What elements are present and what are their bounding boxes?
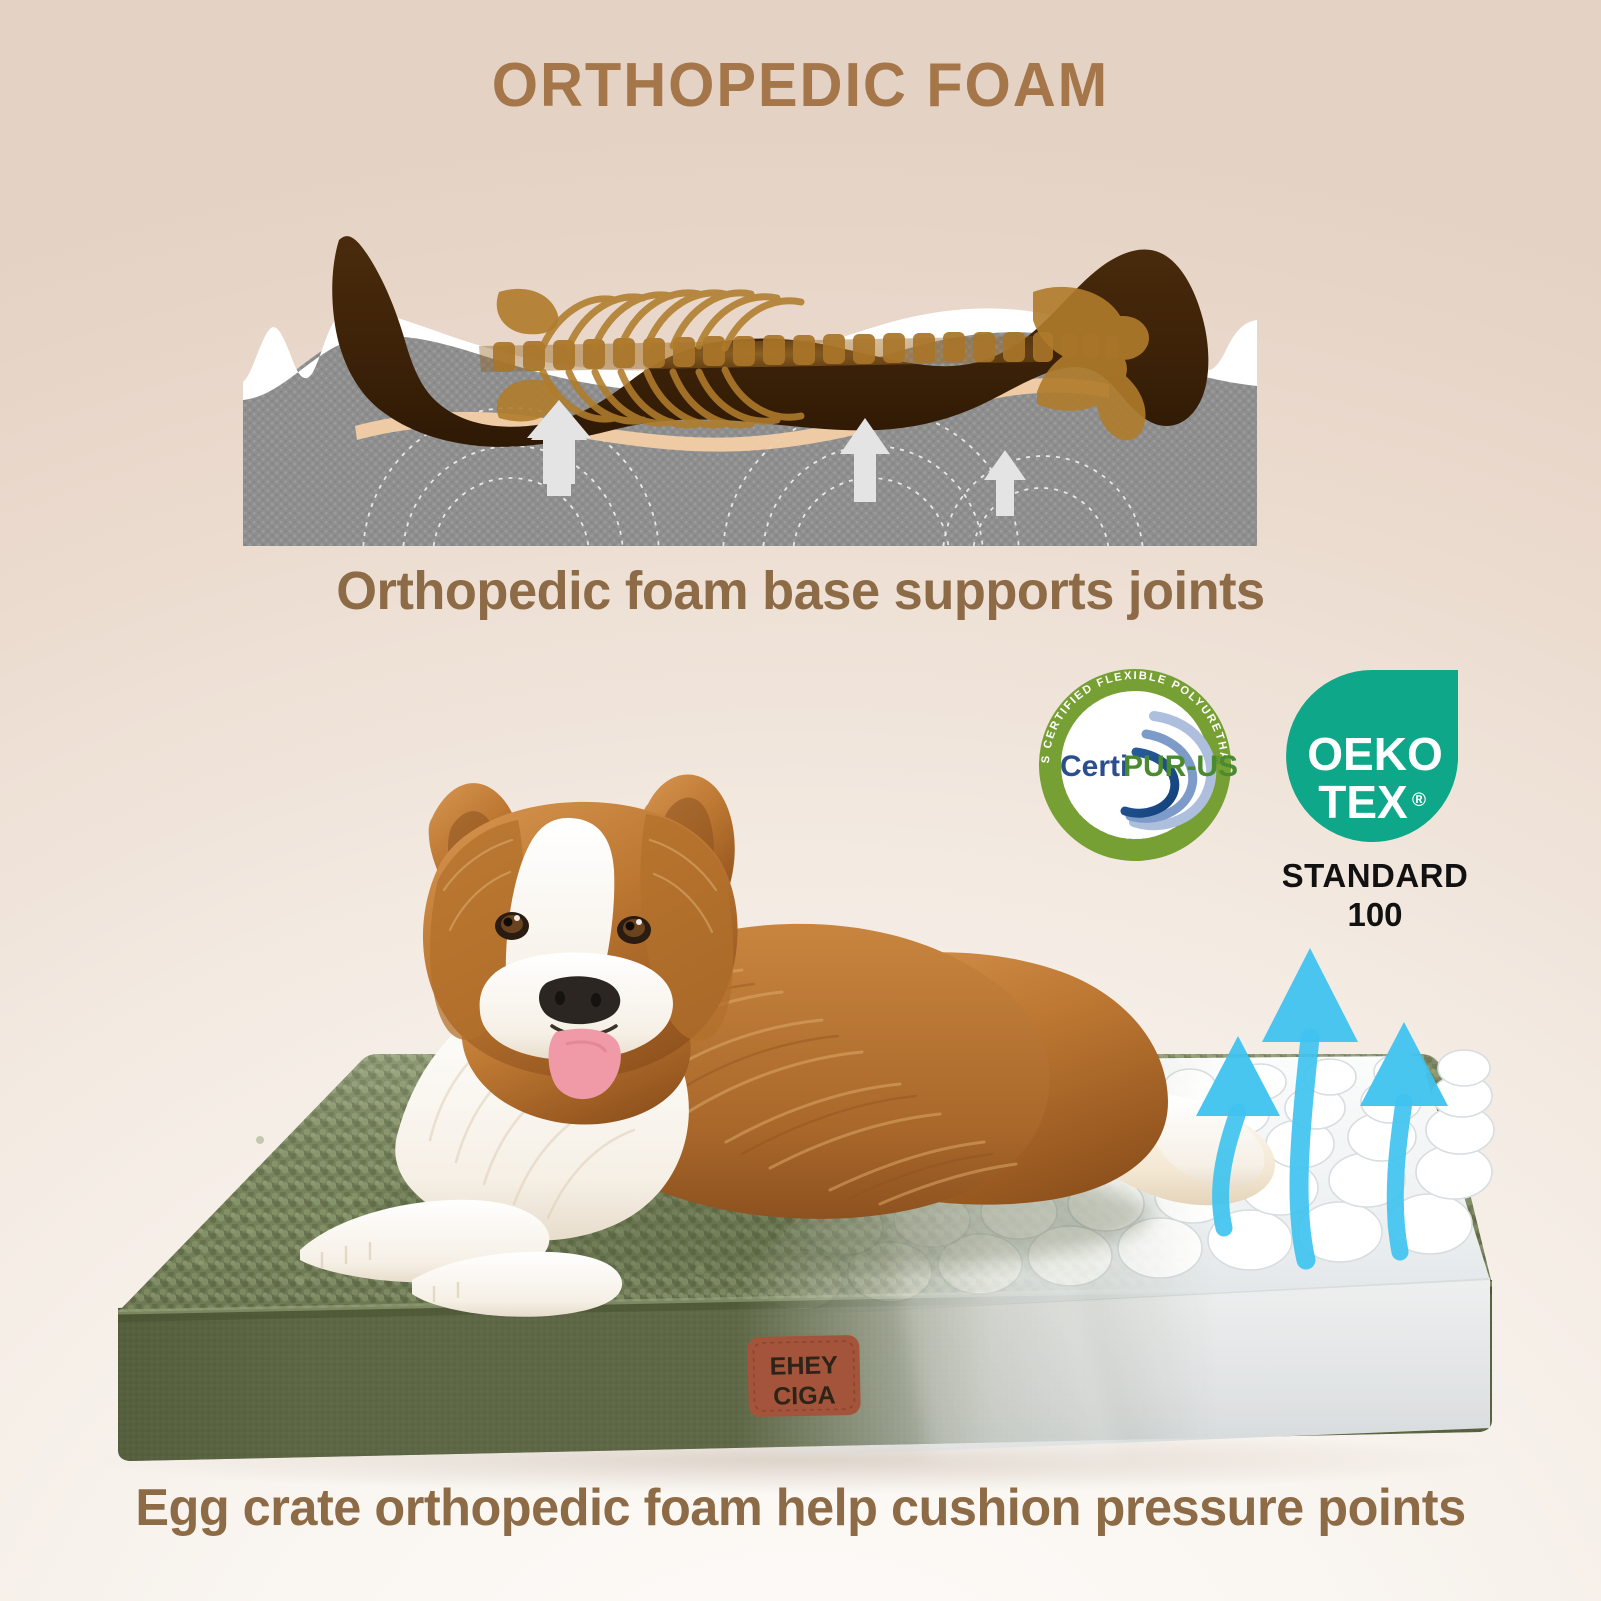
brand-tag: EHEY CIGA	[747, 1335, 861, 1417]
skeleton-tail-vertebrae	[1061, 334, 1119, 358]
product-scene: EHEY CIGA	[0, 760, 1601, 1500]
brand-tag-line2: CIGA	[773, 1381, 836, 1410]
page-title: ORTHOPEDIC FOAM	[32, 50, 1569, 121]
diagram-caption: Orthopedic foam base supports joints	[24, 560, 1577, 622]
orthopedic-cross-section-diagram	[243, 196, 1257, 546]
dog-nose	[539, 976, 620, 1024]
brand-tag-line1: EHEY	[769, 1351, 838, 1380]
product-caption: Egg crate orthopedic foam help cushion p…	[24, 1478, 1577, 1538]
marketing-image: ORTHOPEDIC FOAM	[0, 0, 1601, 1601]
